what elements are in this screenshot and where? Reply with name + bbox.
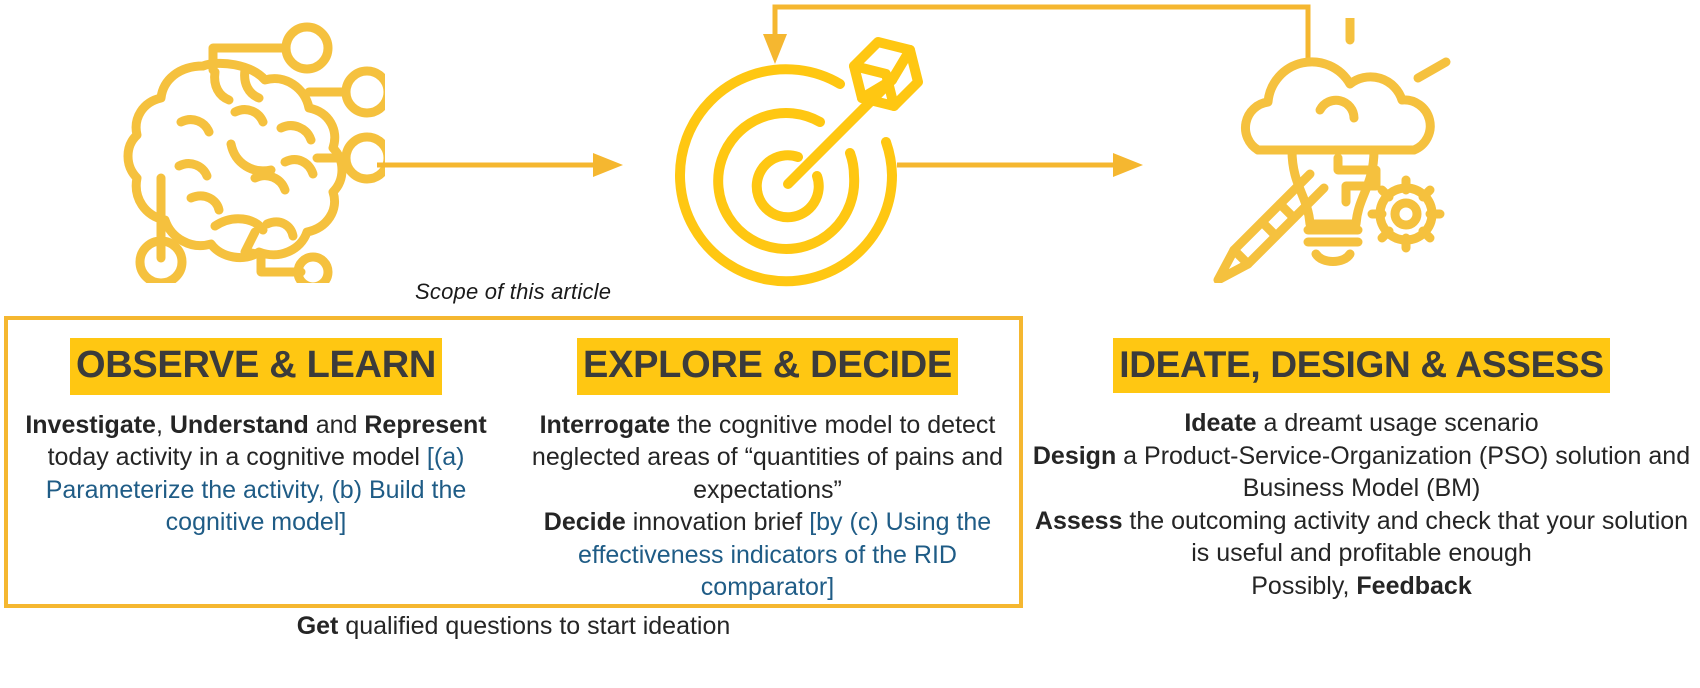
stage-body-explore-decide: Interrogate the cognitive model to detec…: [526, 409, 1009, 604]
stage-body-ideate-design-assess: Ideate a dreamt usage scenarioDesign a P…: [1031, 407, 1692, 602]
brain-network-icon: [95, 18, 385, 283]
stage-column-observe-learn: OBSERVE & LEARN Investigate, Understand …: [0, 316, 512, 539]
stage-column-explore-decide: EXPLORE & DECIDE Interrogate the cogniti…: [512, 316, 1023, 604]
stage-body-observe-learn: Investigate, Understand and Represent to…: [18, 409, 494, 539]
process-icon-row: [0, 0, 1700, 300]
footer-get-qualified-questions: Get qualified questions to start ideatio…: [4, 612, 1023, 641]
stage-column-ideate-design-assess: IDEATE, DESIGN & ASSESS Ideate a dreamt …: [1023, 316, 1700, 602]
stage-title-explore-decide: EXPLORE & DECIDE: [577, 338, 958, 395]
stage-title-ideate-design-assess: IDEATE, DESIGN & ASSESS: [1113, 338, 1609, 393]
ideate-bulb-pencil-gear-icon: [1170, 18, 1470, 283]
arrow-right-icon: [895, 140, 1145, 190]
stage-title-observe-learn: OBSERVE & LEARN: [70, 338, 442, 395]
arrow-right-icon: [375, 140, 625, 190]
scope-label: Scope of this article: [415, 279, 611, 305]
stage-columns: OBSERVE & LEARN Investigate, Understand …: [0, 316, 1700, 604]
